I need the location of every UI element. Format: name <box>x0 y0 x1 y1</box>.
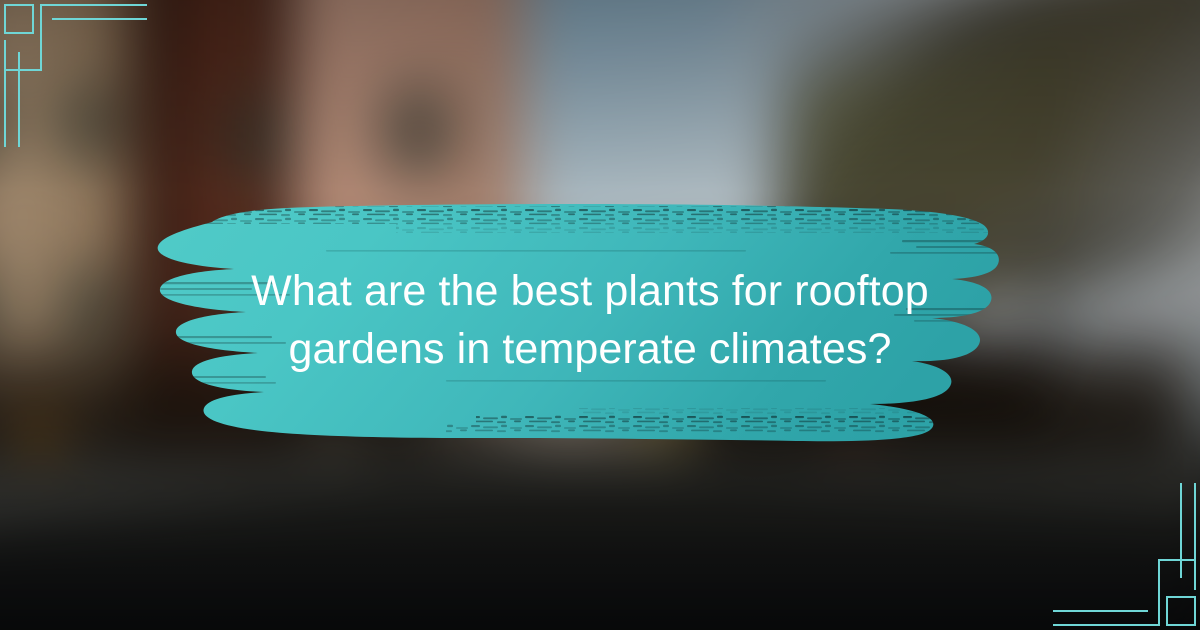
corner-line-horizontal-inner <box>1053 610 1148 612</box>
corner-line-vertical <box>1158 559 1160 626</box>
corner-line-vertical <box>40 4 42 71</box>
corner-line-horizontal <box>1053 624 1160 626</box>
corner-line-horizontal-inner <box>52 18 147 20</box>
brush-texture-bottom <box>446 424 1006 433</box>
corner-square-icon <box>4 4 34 34</box>
quote-card: What are the best plants for rooftop gar… <box>0 0 1200 630</box>
corner-line-horizontal-stub <box>4 69 42 71</box>
brush-texture-top <box>186 215 1006 224</box>
corner-line-horizontal <box>40 4 147 6</box>
corner-line-horizontal-stub <box>1158 559 1196 561</box>
brush-texture-top <box>166 206 1006 215</box>
page-title: What are the best plants for rooftop gar… <box>190 262 990 378</box>
corner-bracket-bottom-right <box>1040 470 1200 630</box>
corner-bracket-top-left <box>0 0 160 160</box>
brush-texture-top <box>396 224 996 233</box>
corner-line-vertical-outer <box>4 40 6 147</box>
corner-line-vertical-inner <box>1180 483 1182 578</box>
brush-texture-bottom <box>576 408 996 417</box>
corner-line-vertical-inner <box>18 52 20 147</box>
corner-square-icon <box>1166 596 1196 626</box>
corner-line-vertical-outer <box>1194 483 1196 590</box>
